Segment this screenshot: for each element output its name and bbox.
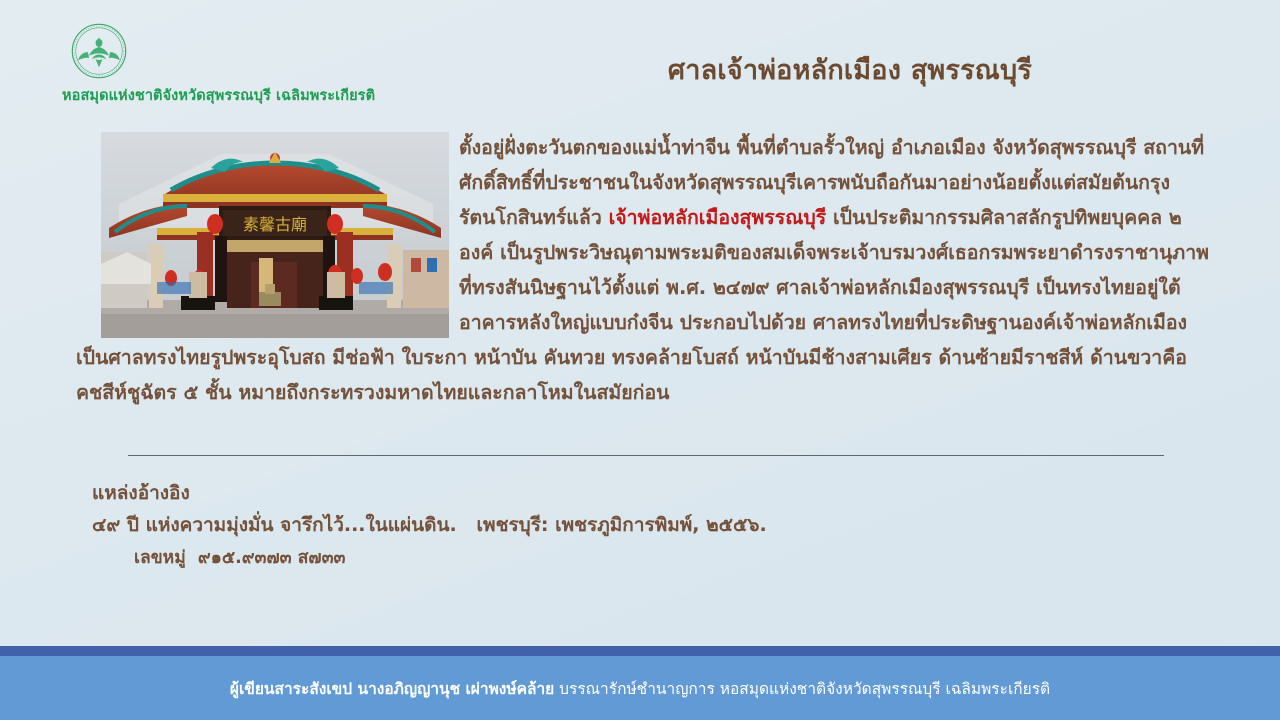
library-branding: หอสมุดแห่งชาติจังหวัดสุพรรณบุรี เฉลิมพระ… bbox=[62, 22, 392, 107]
slide-canvas: หอสมุดแห่งชาติจังหวัดสุพรรณบุรี เฉลิมพระ… bbox=[0, 0, 1280, 720]
article-body: ตั้งอยู่ฝั่งตะวันตกของแม่น้ำท่าจีน พื้นท… bbox=[76, 130, 1216, 410]
footer-credit: ผู้เขียนสาระสังเขป นางอภิญญานุช เผ่าพงษ์… bbox=[230, 676, 1050, 701]
footer-accent-rule bbox=[0, 646, 1280, 656]
references-block: แหล่งอ้างอิง ๔๙ ปี แห่งความมุ่งมั่น จารึ… bbox=[92, 478, 767, 574]
footer-bar: ผู้เขียนสาระสังเขป นางอภิญญานุช เผ่าพงษ์… bbox=[0, 656, 1280, 720]
footer-credit-author: ผู้เขียนสาระสังเขป นางอภิญญานุช เผ่าพงษ์… bbox=[230, 680, 554, 698]
reference-call-number: เลขหมู่ ๙๑๕.๙๓๗๓ ส๗๓๓ bbox=[92, 542, 767, 574]
library-name-label: หอสมุดแห่งชาติจังหวัดสุพรรณบุรี เฉลิมพระ… bbox=[62, 84, 392, 107]
photo-text-wrap-spacer bbox=[76, 130, 459, 334]
reference-entry: ๔๙ ปี แห่งความมุ่งมั่น จารึกไว้...ในแผ่น… bbox=[92, 508, 767, 542]
references-heading: แหล่งอ้างอิง bbox=[92, 478, 767, 508]
section-divider bbox=[128, 455, 1164, 456]
footer-credit-affiliation: บรรณารักษ์ชำนาญการ หอสมุดแห่งชาติจังหวัด… bbox=[554, 680, 1050, 698]
garuda-seal-icon bbox=[62, 22, 392, 80]
body-emphasis-deity-name: เจ้าพ่อหลักเมืองสุพรรณบุรี bbox=[609, 206, 827, 229]
page-title: ศาลเจ้าพ่อหลักเมือง สุพรรณบุรี bbox=[470, 48, 1230, 91]
